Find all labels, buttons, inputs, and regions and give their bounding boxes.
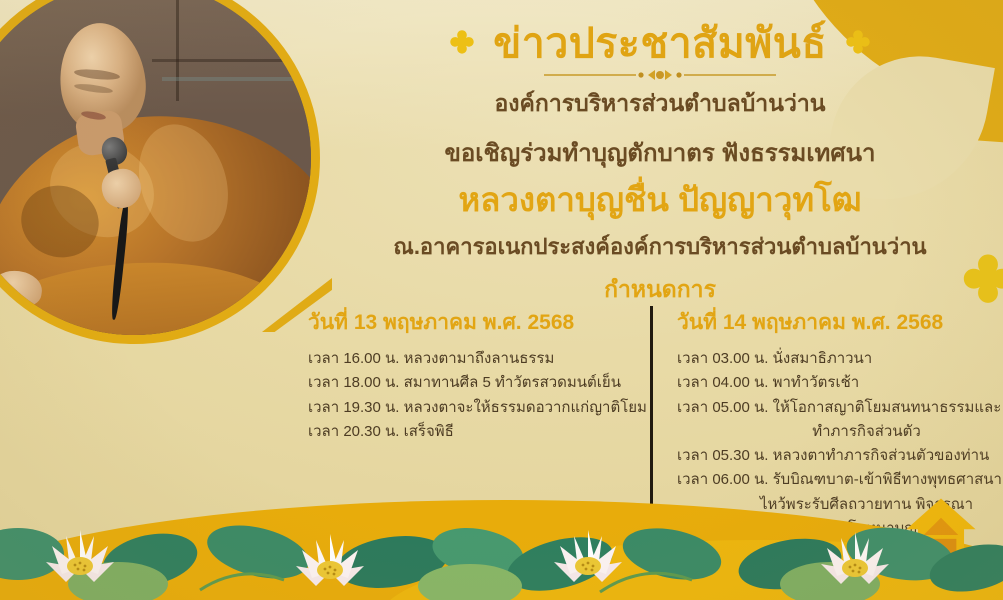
photo-wall-line [162,77,311,81]
schedule-item-continuation: อาหาร อนุโมทนาบุญให้พร [677,517,1000,541]
schedule-item-text: เวลา 19.30 น. หลวงตาจะให้ธรรมดอวากแก่ญาต… [308,399,647,416]
schedule-list: เวลา 03.00 น. นั่งสมาธิภาวนา เวลา 04.00 … [677,347,1000,541]
list-item: เวลา 18.00 น. สมาทานศีล 5 ทำวัตรสวดมนต์เ… [308,371,636,395]
list-item: เวลา 04.00 น. พาทำวัตรเช้า [677,371,1000,395]
schedule-item-text: เวลา 05.00 น. ให้โอกาสญาติโยมสนทนาธรรมแล… [677,399,1001,416]
schedule-column-day2: วันที่ 14 พฤษภาคม พ.ศ. 2568 เวลา 03.00 น… [650,306,1000,541]
title-row: ข่าวประชาสัมพันธ์ [330,20,990,67]
monk-name: หลวงตาบุญชื่น ปัญญาวุทโฒ [330,179,990,222]
list-item: เวลา 16.00 น. หลวงตามาถึงลานธรรม [308,347,636,371]
schedule-item-text: เวลา 06.00 น. รับบิณฑบาต-เข้าพิธีทางพุทธ… [677,471,1002,488]
page-title: ข่าวประชาสัมพันธ์ [493,20,827,67]
day-title: วันที่ 14 พฤษภาคม พ.ศ. 2568 [677,306,1000,339]
list-item: เวลา 20.30 น. เสร็จพิธี [308,420,636,444]
photo-background [0,0,311,335]
photo-wall-line [152,59,311,62]
announcement-poster: ข่าวประชาสัมพันธ์ องค์การบริหารส่วนตำบลบ… [0,0,1003,600]
schedule: วันที่ 13 พฤษภาคม พ.ศ. 2568 เวลา 16.00 น… [300,306,1000,541]
poster-header: ข่าวประชาสัมพันธ์ องค์การบริหารส่วนตำบลบ… [330,20,990,308]
schedule-item-text: เวลา 20.30 น. เสร็จพิธี [308,423,454,440]
list-item: เวลา 05.00 น. ให้โอกาสญาติโยมสนทนาธรรมแล… [677,396,1000,445]
schedule-item-text: เวลา 16.00 น. หลวงตามาถึงลานธรรม [308,350,554,367]
list-item: เวลา 03.00 น. นั่งสมาธิภาวนา [677,347,1000,371]
day-title: วันที่ 13 พฤษภาคม พ.ศ. 2568 [308,306,636,339]
schedule-item-text: เวลา 05.30 น. หลวงตาทำภารกิจส่วนตัวของท่… [677,447,989,464]
quatrefoil-icon [843,29,873,59]
list-item: เวลา 05.30 น. หลวงตาทำภารกิจส่วนตัวของท่… [677,444,1000,468]
schedule-item-continuation: ไหว้พระรับศีลถวายทาน พิจารณา [677,493,1000,517]
schedule-item-text: เวลา 18.00 น. สมาทานศีล 5 ทำวัตรสวดมนต์เ… [308,374,621,391]
venue-line: ณ.อาคารอเนกประสงค์องค์การบริหารส่วนตำบลบ… [330,232,990,263]
schedule-list: เวลา 16.00 น. หลวงตามาถึงลานธรรม เวลา 18… [308,347,636,444]
invitation-line: ขอเชิญร่วมทำบุญตักบาตร ฟังธรรมเทศนา [330,137,990,171]
quatrefoil-icon [447,29,477,59]
list-item: เวลา 06.00 น. รับบิณฑบาต-เข้าพิธีทางพุทธ… [677,468,1000,541]
schedule-item-text: เวลา 03.00 น. นั่งสมาธิภาวนา [677,350,872,367]
photo-wall-line [176,0,179,101]
divider-ornament-icon [540,68,780,82]
monk-photo [0,0,320,344]
schedule-item-continuation: ทำภารกิจส่วนตัว [677,420,1000,444]
agenda-label: กำหนดการ [330,272,990,308]
organization-name: องค์การบริหารส่วนตำบลบ้านว่าน [330,86,990,121]
schedule-item-text: เวลา 04.00 น. พาทำวัตรเช้า [677,374,859,391]
list-item: เวลา 19.30 น. หลวงตาจะให้ธรรมดอวากแก่ญาต… [308,396,636,420]
schedule-column-day1: วันที่ 13 พฤษภาคม พ.ศ. 2568 เวลา 16.00 น… [300,306,650,541]
